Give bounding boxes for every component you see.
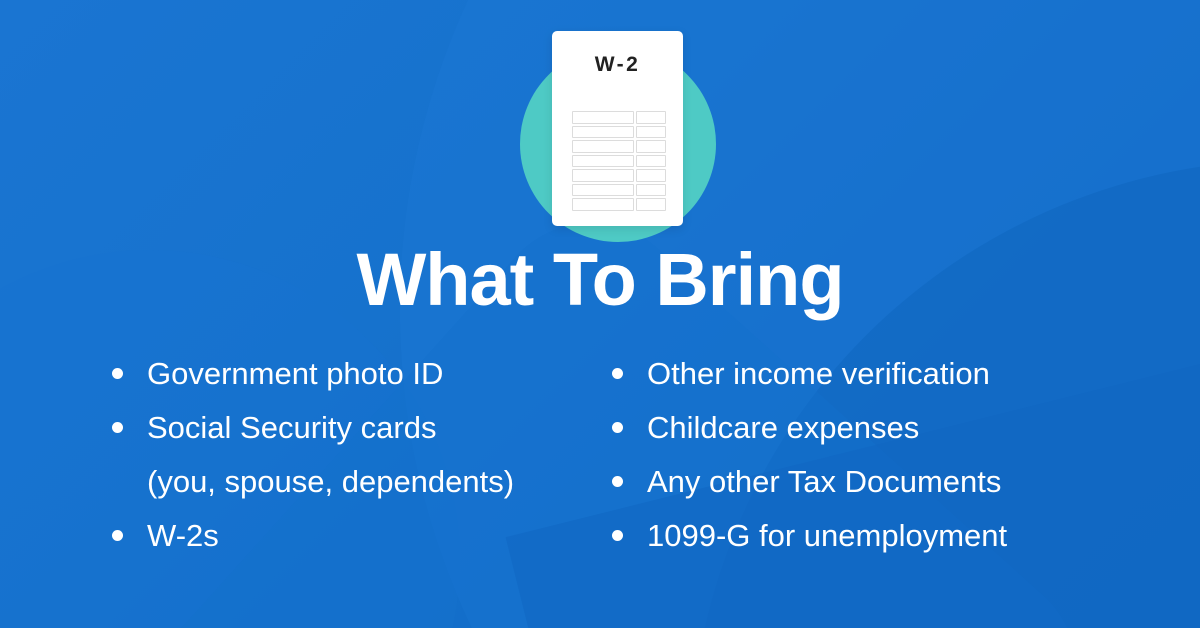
list-item: Any other Tax Documents — [612, 460, 1200, 514]
list-item-label: Childcare expenses — [647, 406, 919, 450]
bullet-icon — [112, 368, 123, 379]
bullet-icon — [112, 422, 123, 433]
bullet-icon — [612, 422, 623, 433]
w2-document-label: W-2 — [552, 53, 683, 77]
list-item-label: Other income verification — [647, 352, 990, 396]
w2-document-table — [572, 111, 664, 211]
list-item-label: Any other Tax Documents — [647, 460, 1001, 504]
table-cell — [572, 126, 634, 139]
table-cell — [636, 184, 666, 197]
list-item-continuation: (you, spouse, dependents) — [112, 460, 600, 514]
list-item: Childcare expenses — [612, 406, 1200, 460]
w2-document-icon: W-2 — [552, 31, 683, 226]
list-item-label: Government photo ID — [147, 352, 443, 396]
table-cell — [572, 169, 634, 182]
checklist: Government photo ID Social Security card… — [0, 352, 1200, 568]
bullet-icon — [112, 530, 123, 541]
table-cell — [636, 111, 666, 124]
list-item-label: Social Security cards — [147, 406, 436, 450]
bullet-icon — [612, 368, 623, 379]
table-cell — [572, 111, 634, 124]
list-item: Government photo ID — [112, 352, 600, 406]
list-item-label: 1099-G for unemployment — [647, 514, 1007, 558]
table-cell — [572, 155, 634, 168]
table-cell — [572, 198, 634, 211]
table-cell — [636, 140, 666, 153]
checklist-column-left: Government photo ID Social Security card… — [0, 352, 600, 568]
list-item-label: (you, spouse, dependents) — [147, 460, 514, 504]
list-item: Social Security cards — [112, 406, 600, 460]
what-to-bring-poster: W-2 What To Bring — [0, 0, 1200, 628]
list-item: W-2s — [112, 514, 600, 568]
page-title: What To Bring — [0, 243, 1200, 317]
hero-illustration: W-2 — [0, 0, 1200, 240]
bullet-icon — [612, 530, 623, 541]
list-item-label: W-2s — [147, 514, 219, 558]
table-cell — [572, 140, 634, 153]
bullet-icon — [612, 476, 623, 487]
table-cell — [636, 169, 666, 182]
table-cell — [636, 198, 666, 211]
table-cell — [636, 155, 666, 168]
list-item: 1099-G for unemployment — [612, 514, 1200, 568]
checklist-column-right: Other income verification Childcare expe… — [600, 352, 1200, 568]
list-item: Other income verification — [612, 352, 1200, 406]
table-cell — [572, 184, 634, 197]
table-cell — [636, 126, 666, 139]
